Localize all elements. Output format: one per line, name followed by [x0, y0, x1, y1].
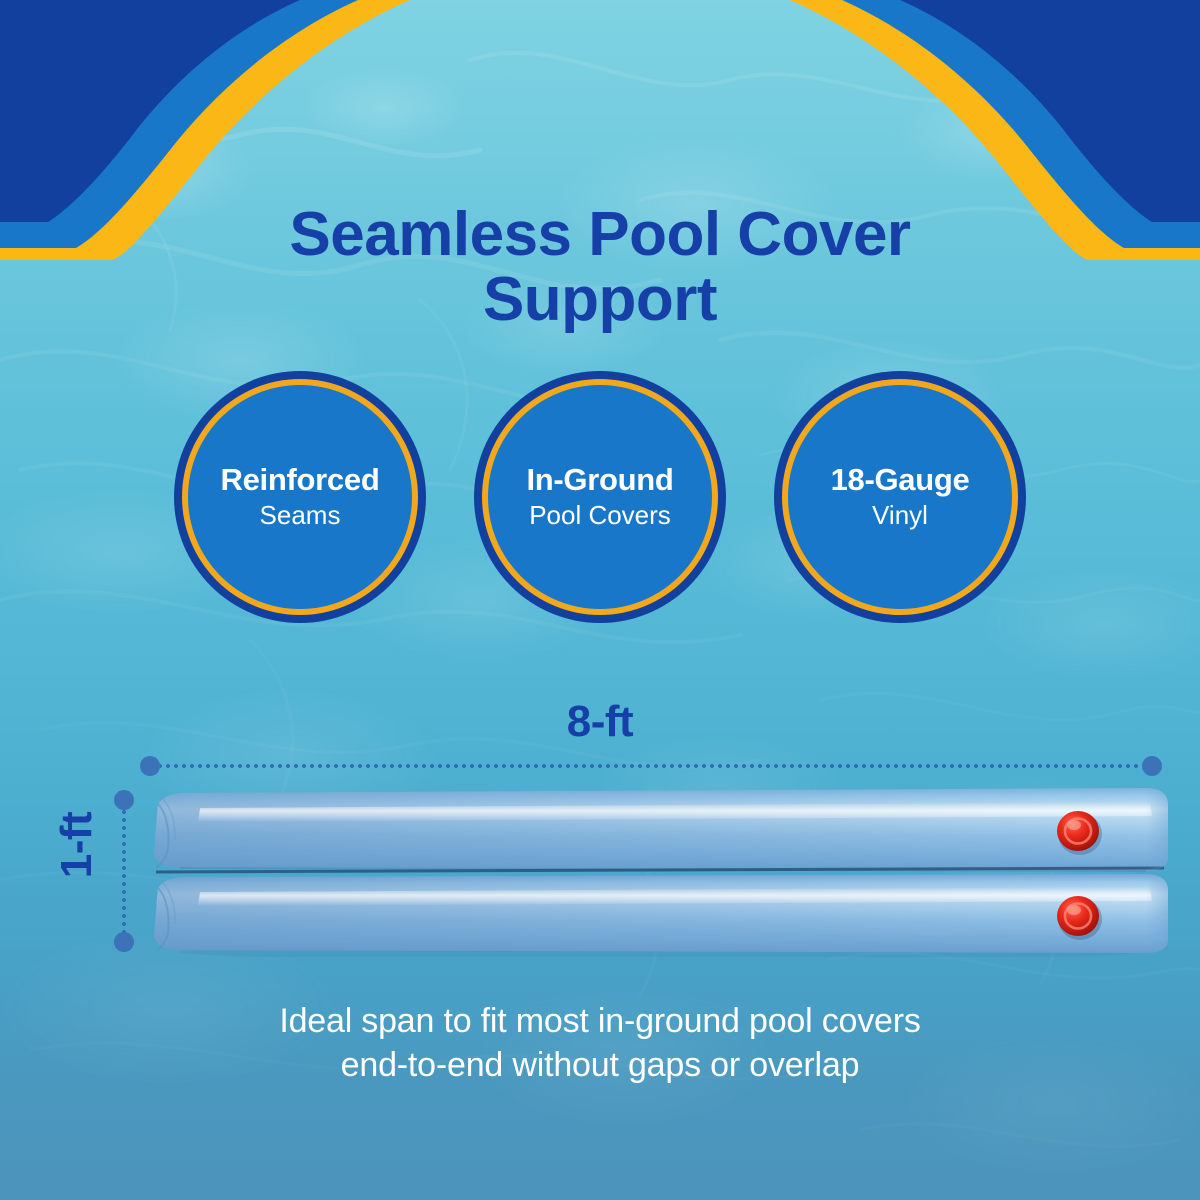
caption-line-2: end-to-end without gaps or overlap — [0, 1044, 1200, 1088]
water-tube-upper — [154, 788, 1168, 871]
height-dimension-rule — [122, 800, 126, 942]
feature-badge-18-gauge-vinyl[interactable]: 18-Gauge Vinyl — [774, 371, 1026, 623]
badge-subline: Vinyl — [872, 500, 928, 531]
badge-headline: Reinforced — [221, 463, 380, 498]
badge-subline: Seams — [260, 500, 341, 531]
tube-end-cap-lower — [1146, 874, 1168, 953]
water-tube-lower — [154, 874, 1168, 953]
product-image-water-tube — [140, 782, 1170, 957]
badge-headline: 18-Gauge — [831, 463, 970, 498]
height-rule-end-dot-top — [114, 790, 134, 810]
height-dimension-label: 1-ft — [52, 790, 102, 900]
tube-end-cap-upper — [1146, 788, 1168, 871]
badge-subline: Pool Covers — [529, 500, 671, 531]
width-rule-end-dot-left — [140, 756, 160, 776]
title-line-1: Seamless Pool Cover — [289, 200, 910, 269]
infographic-canvas: Seamless Pool Cover Support Reinforced S… — [0, 0, 1200, 1200]
feature-badge-in-ground-covers[interactable]: In-Ground Pool Covers — [474, 371, 726, 623]
page-title: Seamless Pool Cover Support — [0, 202, 1200, 332]
badge-headline: In-Ground — [526, 463, 673, 498]
badge-inner-disc: 18-Gauge Vinyl — [788, 385, 1012, 609]
feature-badge-reinforced-seams[interactable]: Reinforced Seams — [174, 371, 426, 623]
badge-inner-disc: In-Ground Pool Covers — [488, 385, 712, 609]
badge-inner-disc: Reinforced Seams — [188, 385, 412, 609]
width-dimension-rule — [148, 764, 1152, 768]
caption-line-1: Ideal span to fit most in-ground pool co… — [279, 1002, 920, 1040]
width-dimension-label: 8-ft — [0, 697, 1200, 747]
height-rule-end-dot-bottom — [114, 932, 134, 952]
title-line-2: Support — [0, 267, 1200, 332]
width-rule-end-dot-right — [1142, 756, 1162, 776]
feature-badge-group: Reinforced Seams In-Ground Pool Covers 1… — [0, 371, 1200, 623]
product-caption: Ideal span to fit most in-ground pool co… — [0, 1000, 1200, 1087]
